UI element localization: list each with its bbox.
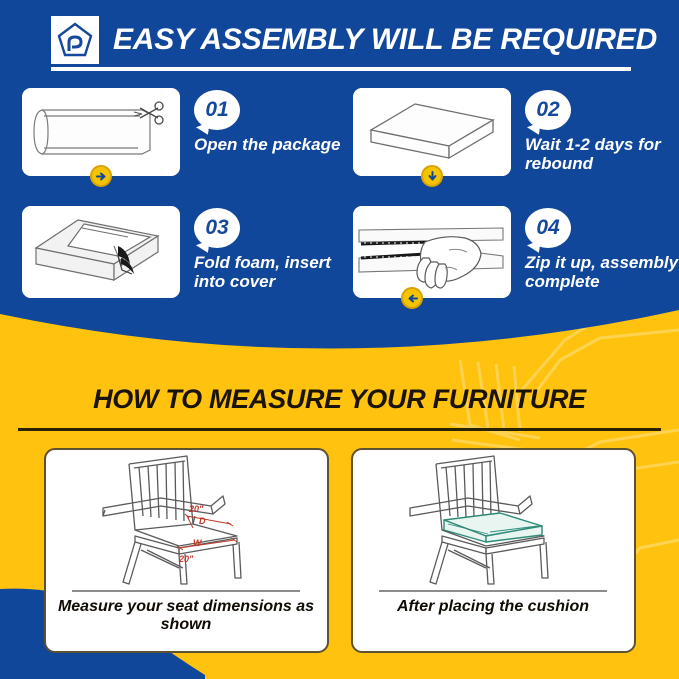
arrow-left-badge-icon — [401, 287, 423, 309]
dim-depth-label: D — [199, 516, 206, 526]
dim-width-value: 20" — [178, 554, 194, 564]
header-divider — [51, 67, 631, 71]
step-02-text: 02 Wait 1-2 days for rebound — [511, 88, 679, 173]
measure-panels: 20" D W 20" Measure your seat dimensions… — [0, 448, 679, 653]
assembly-steps: 01 Open the package — [0, 88, 679, 298]
dim-depth-value: 20" — [188, 504, 204, 514]
step-01-illustration — [22, 88, 180, 176]
dim-width-label: W — [193, 538, 203, 548]
step-02-illustration — [353, 88, 511, 176]
arrow-down-badge-icon — [421, 165, 443, 187]
panel-2-caption: After placing the cushion — [387, 598, 599, 616]
step-card-04: 04 Zip it up, assembly complete — [353, 206, 679, 298]
step-02-number: 02 — [525, 90, 571, 130]
measure-section-title: HOW TO MEASURE YOUR FURNITURE — [0, 384, 679, 415]
page-title: EASY ASSEMBLY WILL BE REQUIRED — [113, 23, 657, 57]
step-01-number: 01 — [194, 90, 240, 130]
step-03-text: 03 Fold foam, insert into cover — [180, 206, 348, 291]
step-card-02: 02 Wait 1-2 days for rebound — [353, 88, 679, 176]
step-01-label: Open the package — [194, 135, 340, 154]
arrow-right-badge-icon — [90, 165, 112, 187]
step-04-illustration — [353, 206, 511, 298]
panel-1-caption: Measure your seat dimensions as shown — [46, 598, 327, 635]
panel-2-divider — [379, 590, 607, 592]
step-04-label: Zip it up, assembly complete — [525, 253, 679, 291]
measure-section-divider — [18, 428, 661, 431]
house-pentagon-logo-icon — [51, 16, 99, 64]
chair-dimension-illustration: 20" D W 20" — [61, 450, 311, 590]
step-row-1: 01 Open the package — [0, 88, 679, 176]
step-03-number: 03 — [194, 208, 240, 248]
step-02-label: Wait 1-2 days for rebound — [525, 135, 679, 173]
step-03-label: Fold foam, insert into cover — [194, 253, 348, 291]
step-03-illustration — [22, 206, 180, 298]
step-row-2: 03 Fold foam, insert into cover — [0, 206, 679, 298]
chair-cushion-illustration — [368, 450, 618, 590]
infographic-root: EASY ASSEMBLY WILL BE REQUIRED — [0, 0, 679, 679]
measure-panel-cushion: After placing the cushion — [351, 448, 636, 653]
panel-1-divider — [72, 590, 300, 592]
step-04-number: 04 — [525, 208, 571, 248]
step-card-01: 01 Open the package — [22, 88, 348, 176]
step-card-03: 03 Fold foam, insert into cover — [22, 206, 348, 298]
step-04-text: 04 Zip it up, assembly complete — [511, 206, 679, 291]
step-01-text: 01 Open the package — [180, 88, 340, 154]
measure-panel-dimensions: 20" D W 20" Measure your seat dimensions… — [44, 448, 329, 653]
